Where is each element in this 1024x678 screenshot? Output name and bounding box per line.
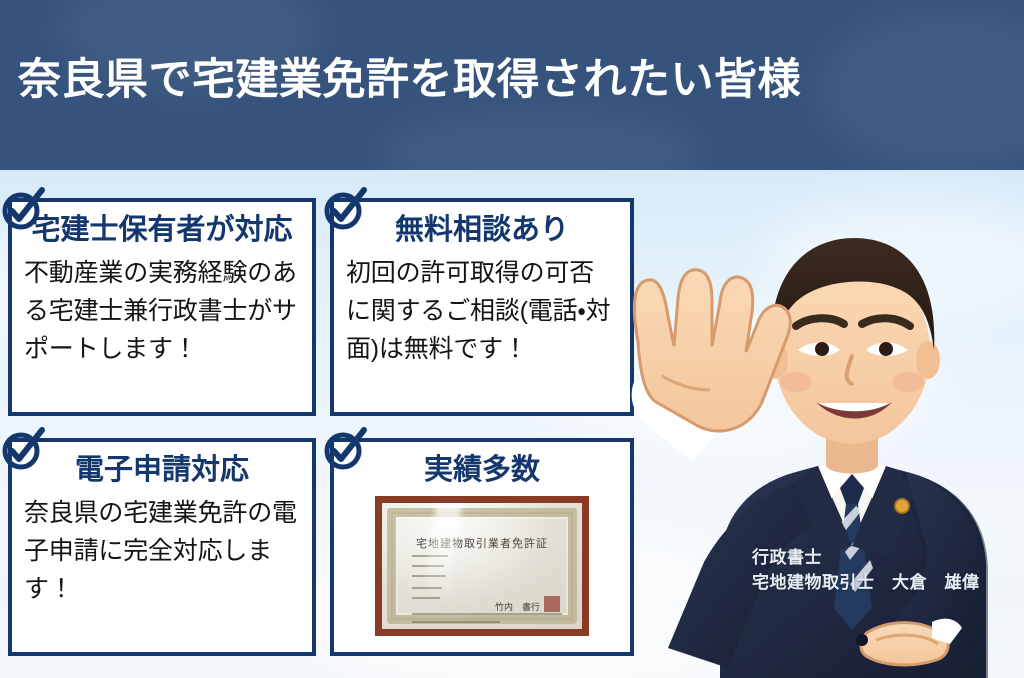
check-circle-icon [320,184,370,234]
ear-left [764,341,788,379]
hand-crease [876,635,938,644]
palm-crease [662,376,710,390]
feature-body: 初回の許可取得の可否に関するご相談(電話・対面)は無料です！ [346,254,618,368]
certificate-body-line [412,621,500,623]
jacket-button [856,634,868,646]
shirt-cuff-right [932,619,962,644]
shirt-collar-left [814,458,852,506]
feature-box-track-record: 実績多数 宅地建物取引業者免許証 竹内 書行 [330,438,634,656]
teeth [819,403,889,411]
dress-shirt [818,458,886,542]
feature-box-online-application: 電子申請対応 奈良県の宅建業免許の電子申請に完全対応します！ [8,438,316,656]
ear-right [916,341,940,379]
pupil-right [879,342,893,356]
neck [826,420,878,474]
pupil-left [815,342,829,356]
poster-canvas: 奈良県で宅建業免許を取得されたい皆様 宅建士保有者が対応 不動産業の実務経験のあ… [0,0,1024,678]
certificate-signature: 竹内 書行 [495,600,540,613]
feature-body: 不動産業の実務経験のある宅建士兼行政書士がサポートします！ [24,254,300,368]
certificate-title: 宅地建物取引業者免許証 [382,535,582,551]
face [774,260,930,444]
feature-heading: 宅建士保有者が対応 [24,210,300,250]
resting-hand [861,623,948,665]
check-circle-icon [0,184,48,234]
eyebrow-left [796,318,844,326]
feature-box-takken-holder: 宅建士保有者が対応 不動産業の実務経験のある宅建士兼行政書士がサポートします！ [8,198,316,416]
feature-heading: 無料相談あり [346,210,618,250]
feature-heading: 電子申請対応 [24,450,300,490]
check-circle-icon [0,424,48,474]
header-band: 奈良県で宅建業免許を取得されたい皆様 [0,0,1024,170]
feature-box-free-consultation: 無料相談あり 初回の許可取得の可否に関するご相談(電話・対面)は無料です！ [330,198,634,416]
cheek-left [780,372,812,392]
necktie-knot [840,474,864,504]
cloud-decoration [760,200,1024,320]
hair [772,238,935,350]
check-circle-icon [320,424,370,474]
person-caption-line-1: 行政書士 [752,545,980,570]
raised-hand [634,270,790,431]
nose [847,356,852,384]
feature-body: 奈良県の宅建業免許の電子申請に完全対応します！ [24,494,300,608]
feature-heading: 実績多数 [346,450,618,490]
person-illustration [600,170,1024,678]
header-cloud-decoration [380,110,700,170]
license-certificate-photo: 宅地建物取引業者免許証 竹内 書行 [375,496,589,636]
lapel-badge-icon [895,499,909,513]
mouth [816,402,892,419]
certificate-seal [544,596,560,612]
person-illustration-svg [600,170,1024,678]
page-title: 奈良県で宅建業免許を取得されたい皆様 [18,50,918,110]
person-caption: 行政書士 宅地建物取引士 大倉 雄偉 [752,545,980,595]
person-caption-line-2: 宅地建物取引士 大倉 雄偉 [752,570,980,595]
shirt-cuff [632,382,726,462]
shirt-collar-right [852,458,890,506]
eyebrow-right [862,318,910,326]
cheek-right [892,372,924,392]
eye-left [798,343,840,357]
certificate-body-line [412,613,562,615]
eye-right [866,343,908,357]
